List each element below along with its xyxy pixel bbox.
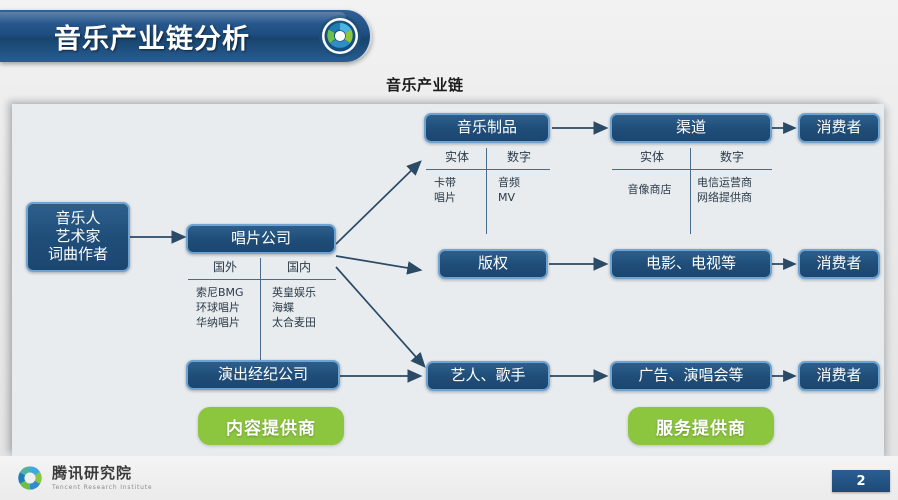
page-title: 音乐产业链分析 xyxy=(54,17,250,56)
node-consumer-1[interactable]: 消费者 xyxy=(798,113,880,143)
cell-overseas-labels: 索尼BMG 环球唱片 华纳唱片 xyxy=(188,286,260,331)
node-copyright[interactable]: 版权 xyxy=(438,249,548,279)
arrow-record-to-copyright xyxy=(336,256,420,270)
music-industry-chain-diagram: 音乐人 艺术家 词曲作者 唱片公司 国外 国内 索尼BMG 环球唱片 华纳唱片 … xyxy=(12,104,884,456)
node-creators[interactable]: 音乐人 艺术家 词曲作者 xyxy=(26,202,130,272)
table-channel-body: 音像商店 电信运营商 网络提供商 xyxy=(612,170,772,206)
label-content-provider[interactable]: 内容提供商 xyxy=(198,407,344,445)
page-number-badge: 2 xyxy=(832,470,890,492)
cell-digital-items: 电信运营商 网络提供商 xyxy=(687,176,772,206)
arrow-record-to-products xyxy=(336,162,420,244)
label-service-provider[interactable]: 服务提供商 xyxy=(628,407,774,445)
table-vertical-divider xyxy=(690,148,691,234)
cell-digital-items: 音频 MV xyxy=(486,176,550,206)
footer-brand-en: Tencent Research Institute xyxy=(52,484,152,491)
cell-physical-items: 音像商店 xyxy=(612,176,687,206)
slide-title-banner: 音乐产业链分析 xyxy=(0,10,372,62)
table-record-company-body: 索尼BMG 环球唱片 华纳唱片 英皇娱乐 海蝶 太合麦田 xyxy=(188,280,336,331)
table-music-products-body: 卡带 唱片 音频 MV xyxy=(426,170,550,206)
header-domestic: 国内 xyxy=(262,258,336,275)
diagram-panel: 音乐人 艺术家 词曲作者 唱片公司 国外 国内 索尼BMG 环球唱片 华纳唱片 … xyxy=(12,104,884,456)
footer-brand: 腾讯研究院 Tencent Research Institute xyxy=(52,462,152,491)
node-agency-company[interactable]: 演出经纪公司 xyxy=(186,360,340,390)
table-record-company-headers: 国外 国内 xyxy=(188,258,336,279)
node-film-tv[interactable]: 电影、电视等 xyxy=(610,249,772,279)
tencent-pinwheel-logo-icon xyxy=(318,14,362,58)
header-physical: 实体 xyxy=(426,148,488,165)
arrow-record-to-artists xyxy=(336,267,424,366)
table-music-products-headers: 实体 数字 xyxy=(426,148,550,169)
table-channel-headers: 实体 数字 xyxy=(612,148,772,169)
header-physical: 实体 xyxy=(612,148,692,165)
table-music-products: 实体 数字 卡带 唱片 音频 MV xyxy=(426,148,550,206)
node-consumer-3[interactable]: 消费者 xyxy=(798,361,880,391)
node-music-products[interactable]: 音乐制品 xyxy=(424,113,550,143)
node-record-company[interactable]: 唱片公司 xyxy=(186,224,336,254)
node-consumer-2[interactable]: 消费者 xyxy=(798,249,880,279)
cell-physical-items: 卡带 唱片 xyxy=(426,176,486,206)
header-digital: 数字 xyxy=(692,148,772,165)
node-artists[interactable]: 艺人、歌手 xyxy=(426,361,550,391)
cell-domestic-labels: 英皇娱乐 海蝶 太合麦田 xyxy=(260,286,336,331)
table-vertical-divider xyxy=(260,258,261,364)
table-vertical-divider xyxy=(486,148,487,234)
footer-bar: 腾讯研究院 Tencent Research Institute 2 xyxy=(0,456,898,500)
node-channel[interactable]: 渠道 xyxy=(610,113,772,143)
chart-subtitle: 音乐产业链 xyxy=(386,74,464,95)
tencent-pinwheel-logo-icon xyxy=(14,462,46,494)
footer-brand-cn: 腾讯研究院 xyxy=(52,462,152,483)
table-record-company: 国外 国内 索尼BMG 环球唱片 华纳唱片 英皇娱乐 海蝶 太合麦田 xyxy=(188,258,336,331)
table-channel: 实体 数字 音像商店 电信运营商 网络提供商 xyxy=(612,148,772,206)
node-ads-concerts[interactable]: 广告、演唱会等 xyxy=(610,361,772,391)
header-overseas: 国外 xyxy=(188,258,262,275)
header-digital: 数字 xyxy=(488,148,550,165)
